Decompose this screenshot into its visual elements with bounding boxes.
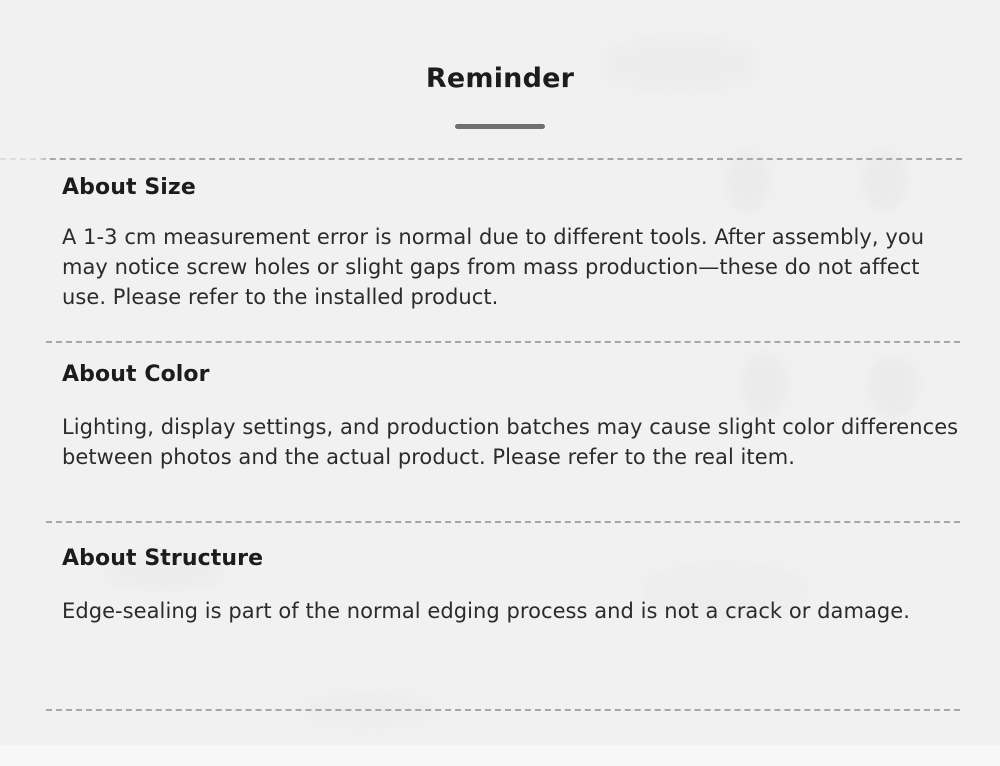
- section-body-about-size: A 1-3 cm measurement error is normal due…: [0, 222, 1000, 312]
- section-body-about-structure: Edge-sealing is part of the normal edgin…: [0, 596, 1000, 626]
- divider-bottom: [46, 709, 960, 711]
- divider-after-color: [46, 521, 960, 523]
- title-underline-bar: [455, 124, 545, 129]
- section-heading-about-structure: About Structure: [0, 547, 1000, 571]
- divider-after-size: [46, 341, 960, 343]
- section-about-color: About Color Lighting, display settings, …: [0, 363, 1000, 472]
- section-body-about-color: Lighting, display settings, and producti…: [0, 412, 1000, 472]
- divider-top: [0, 158, 962, 160]
- section-about-structure: About Structure Edge-sealing is part of …: [0, 547, 1000, 626]
- section-heading-about-size: About Size: [0, 176, 1000, 200]
- reminder-page: Reminder About Size A 1-3 cm measurement…: [0, 0, 1000, 766]
- section-heading-about-color: About Color: [0, 363, 1000, 387]
- page-header: Reminder: [0, 0, 1000, 129]
- reminder-content: Reminder About Size A 1-3 cm measurement…: [0, 0, 1000, 766]
- section-about-size: About Size A 1-3 cm measurement error is…: [0, 176, 1000, 312]
- page-title: Reminder: [0, 0, 1000, 92]
